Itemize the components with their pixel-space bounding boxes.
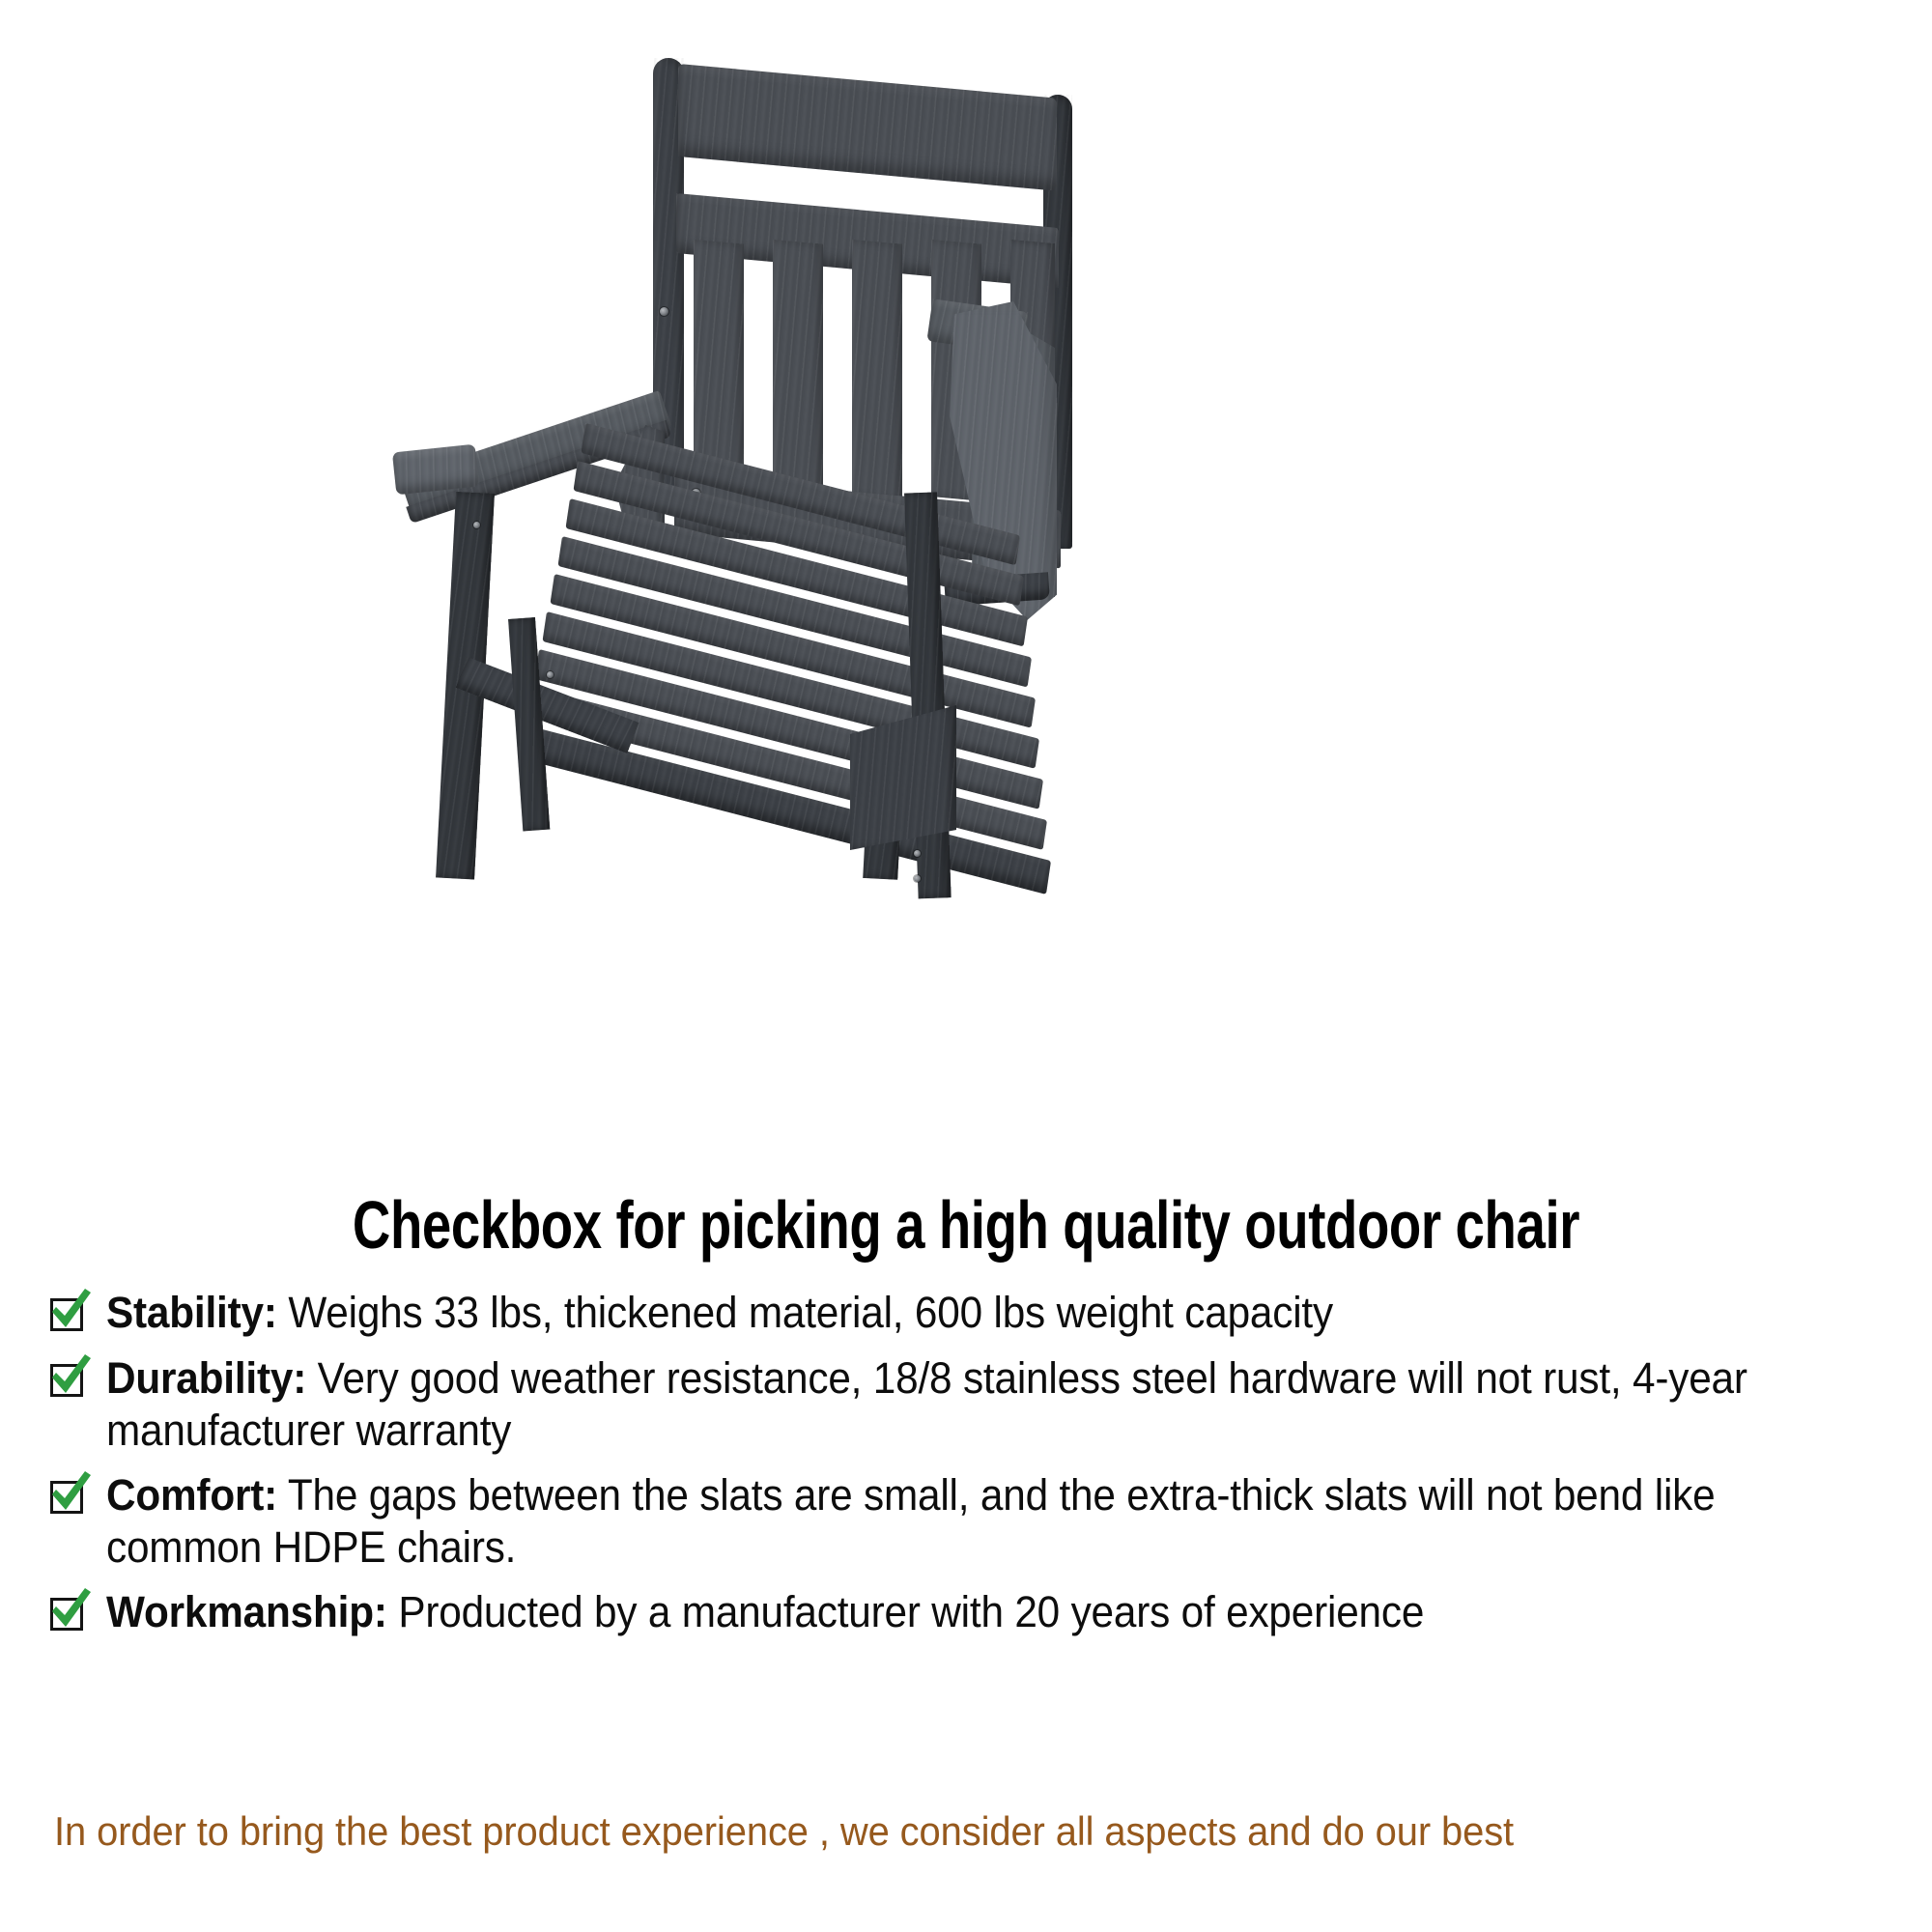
check-icon	[46, 1588, 91, 1634]
product-image-area	[0, 0, 1932, 1159]
chair-left-armrest-cap	[392, 444, 479, 496]
list-item-text: Workmanship: Producted by a manufacturer…	[106, 1586, 1784, 1638]
check-icon	[46, 1354, 91, 1401]
list-item: Durability: Very good weather resistance…	[46, 1352, 1891, 1456]
hardware-screw	[914, 875, 921, 882]
chair-rear-left-leg	[508, 617, 550, 831]
checked-checkbox-icon	[46, 1291, 91, 1339]
chair-top-rail	[678, 64, 1057, 191]
chair-back-slat	[852, 240, 902, 501]
page-title: Checkbox for picking a high quality outd…	[213, 1186, 1719, 1264]
list-item-label: Durability:	[106, 1353, 306, 1403]
list-item-text: Durability: Very good weather resistance…	[106, 1352, 1784, 1456]
hardware-screw	[660, 307, 668, 316]
list-item: Stability: Weighs 33 lbs, thickened mate…	[46, 1287, 1891, 1339]
check-icon	[46, 1289, 91, 1335]
marketing-copy-panel: Checkbox for picking a high quality outd…	[0, 1159, 1932, 1932]
list-item-label: Workmanship:	[106, 1587, 387, 1636]
footer-tagline: In order to bring the best product exper…	[54, 1808, 1798, 1855]
list-item-body: Producted by a manufacturer with 20 year…	[387, 1587, 1424, 1636]
hardware-screw	[547, 671, 554, 678]
hardware-screw	[914, 850, 921, 857]
outdoor-chair-illustration	[367, 39, 1121, 908]
checked-checkbox-icon	[46, 1473, 91, 1521]
list-item: Workmanship: Producted by a manufacturer…	[46, 1586, 1891, 1638]
list-item-label: Comfort:	[106, 1470, 277, 1520]
list-item: Comfort: The gaps between the slats are …	[46, 1469, 1891, 1573]
checked-checkbox-icon	[46, 1356, 91, 1405]
check-icon	[46, 1471, 91, 1518]
list-item-body: Very good weather resistance, 18/8 stain…	[106, 1353, 1747, 1455]
feature-checklist: Stability: Weighs 33 lbs, thickened mate…	[46, 1287, 1891, 1652]
chair-right-side-apron	[850, 705, 956, 850]
hardware-screw	[473, 522, 480, 528]
list-item-text: Comfort: The gaps between the slats are …	[106, 1469, 1784, 1573]
list-item-body: Weighs 33 lbs, thickened material, 600 l…	[277, 1288, 1333, 1337]
list-item-text: Stability: Weighs 33 lbs, thickened mate…	[106, 1287, 1784, 1339]
checked-checkbox-icon	[46, 1590, 91, 1638]
chair-back-slat	[773, 240, 823, 501]
list-item-body: The gaps between the slats are small, an…	[106, 1470, 1715, 1572]
list-item-label: Stability:	[106, 1288, 277, 1337]
